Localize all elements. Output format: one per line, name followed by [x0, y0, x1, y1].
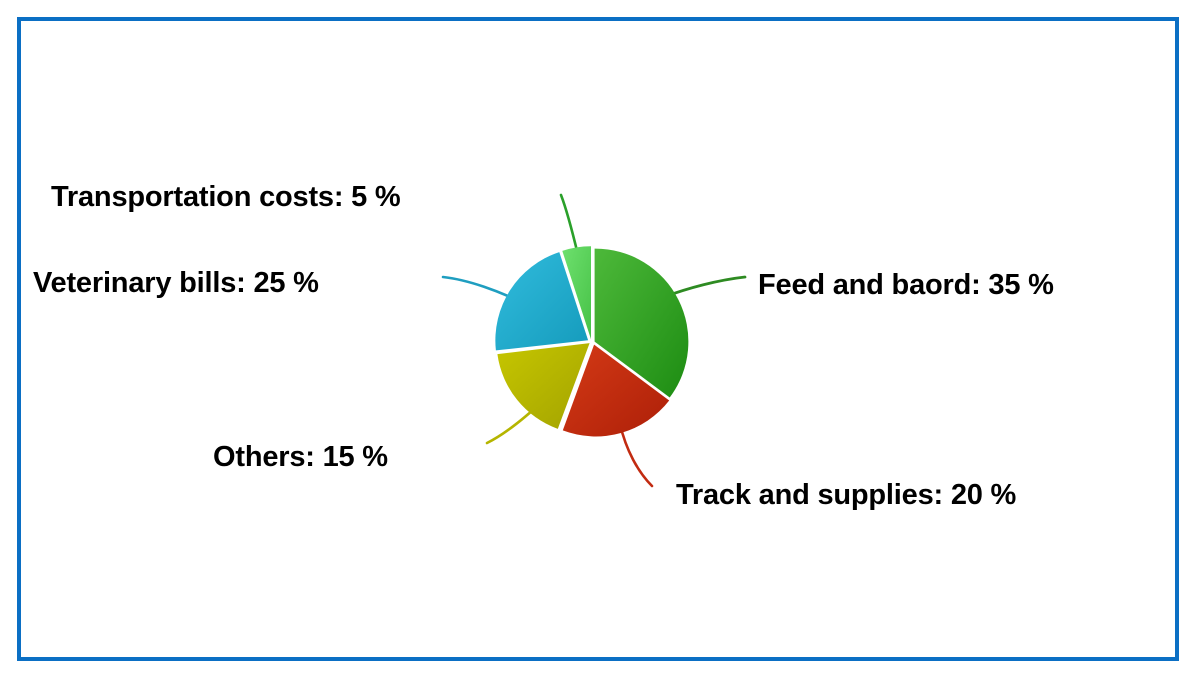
pie-label-others: Others: 15 %	[213, 440, 388, 474]
leader-line-veterinary-bills	[443, 277, 519, 301]
pie-slice-feed-and-baord[interactable]	[595, 249, 689, 398]
pie-slice-veterinary-bills[interactable]	[495, 252, 588, 350]
pie-slice-transportation-costs[interactable]	[562, 246, 591, 339]
pie-chart-graphic	[0, 0, 1200, 682]
leader-line-others	[487, 399, 545, 443]
leader-line-feed-and-baord	[664, 277, 745, 297]
leader-line-track-and-supplies	[620, 424, 652, 486]
pie-label-transportation-costs: Transportation costs: 5 %	[51, 180, 401, 214]
pie-label-feed-and-baord: Feed and baord: 35 %	[758, 268, 1054, 302]
leader-line-transportation-costs	[561, 195, 578, 255]
pie-chart-plot-area: Feed and baord: 35 % Track and supplies:…	[0, 0, 1200, 682]
pie-slice-track-and-supplies[interactable]	[563, 345, 669, 437]
pie-slice-others[interactable]	[497, 343, 589, 429]
chart-canvas: Feed and baord: 35 % Track and supplies:…	[0, 0, 1200, 682]
pie-label-veterinary-bills: Veterinary bills: 25 %	[33, 266, 319, 300]
pie-label-track-and-supplies: Track and supplies: 20 %	[676, 478, 1016, 512]
